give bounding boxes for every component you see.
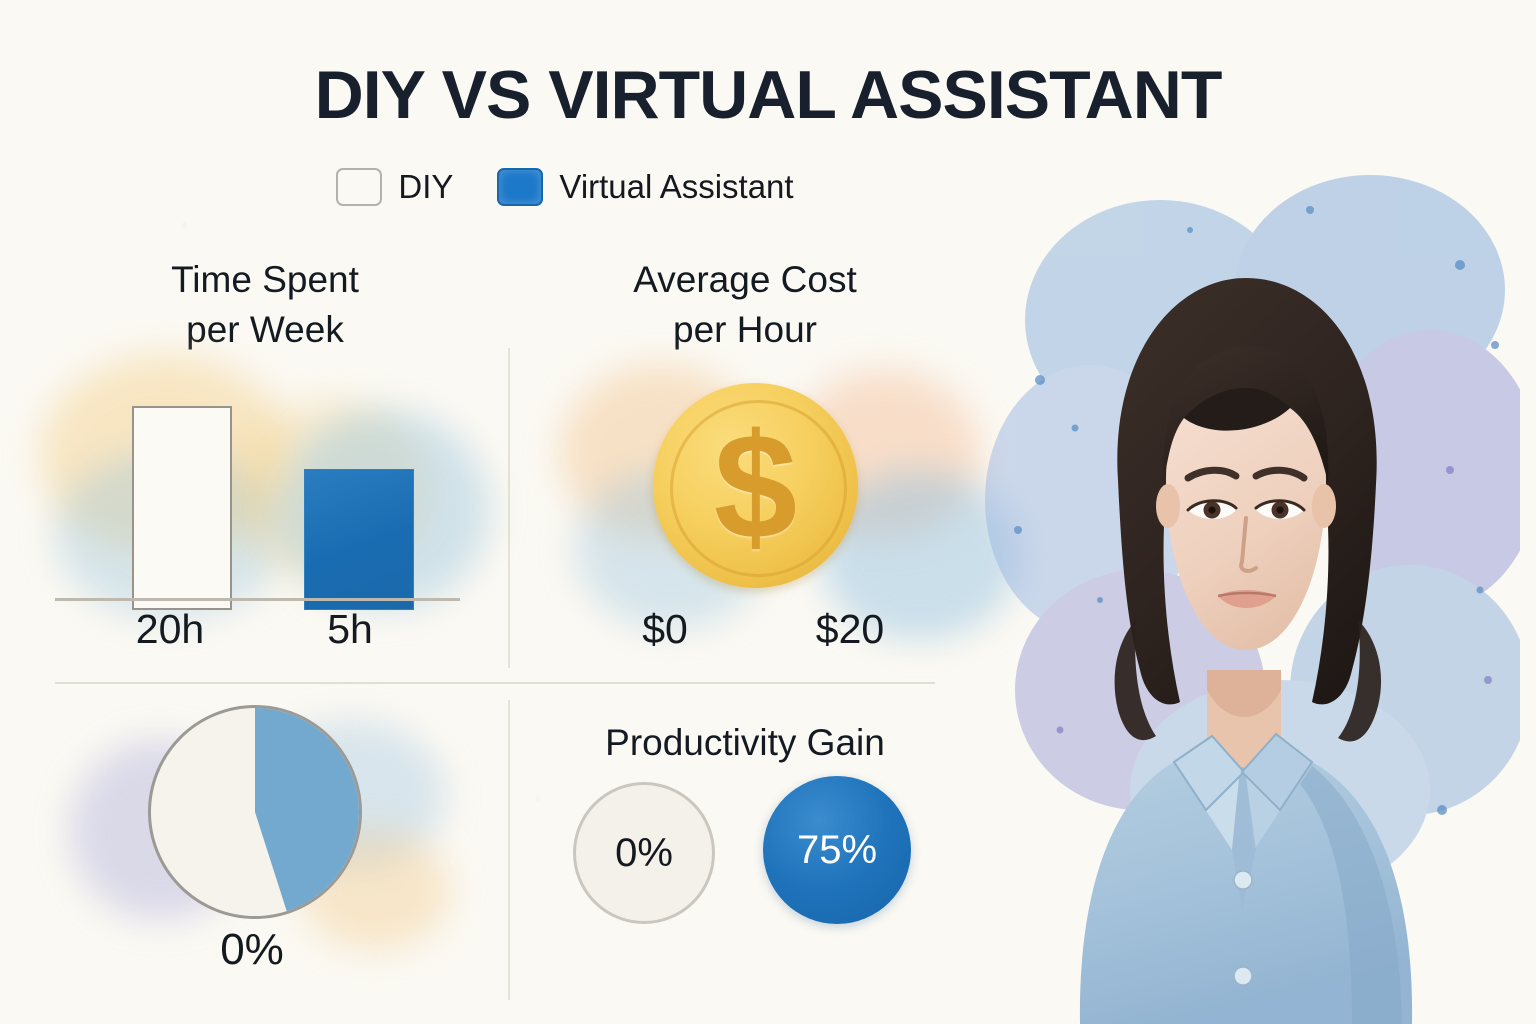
bar-chart-baseline [55, 598, 460, 601]
pie-label-diy: 0% [148, 925, 356, 975]
horizontal-divider [55, 682, 935, 684]
virtual-assistant-swatch-icon [497, 168, 543, 206]
bar-label-va-time: 5h [250, 606, 450, 653]
panel-title-time-spent-line2: per Week [55, 305, 475, 355]
legend-label-diy: DIY [398, 168, 453, 206]
panel-title-average-cost: Average Cost per Hour [545, 255, 945, 354]
page-title: DIY VS VIRTUAL ASSISTANT [0, 56, 1536, 134]
legend-label-virtual-assistant: Virtual Assistant [559, 168, 793, 206]
vertical-divider-bottom [508, 700, 510, 1000]
panel-title-average-cost-line2: per Hour [545, 305, 945, 355]
panel-title-time-spent-line1: Time Spent [55, 255, 475, 305]
shirt-button-1 [1234, 871, 1252, 889]
diy-swatch-icon [336, 168, 382, 206]
dollar-sign-glyph: $ [653, 383, 858, 588]
panel-title-time-spent: Time Spent per Week [55, 255, 475, 354]
panel-title-productivity-gain: Productivity Gain [545, 718, 945, 768]
cost-label-va: $20 [750, 606, 950, 653]
productivity-value-virtual-assistant: 75% [797, 828, 877, 873]
shirt-button-2 [1234, 967, 1252, 985]
bar-diy-time [132, 406, 232, 610]
legend-item-diy: DIY [336, 168, 453, 206]
productivity-circle-diy: 0% [573, 782, 715, 924]
time-spent-bar-chart [60, 380, 480, 610]
coin-body: $ [653, 383, 858, 588]
legend-item-virtual-assistant: Virtual Assistant [497, 168, 793, 206]
bar-va-time [304, 469, 414, 610]
productivity-circle-virtual-assistant: 75% [763, 776, 911, 924]
productivity-value-diy: 0% [615, 831, 673, 876]
portrait-illustration [960, 150, 1536, 1024]
vertical-divider-top [508, 348, 510, 668]
share-pie-chart [148, 705, 362, 919]
portrait-figure [960, 150, 1536, 1024]
dollar-coin-icon: $ [640, 378, 870, 603]
panel-title-productivity-gain-text: Productivity Gain [545, 718, 945, 768]
bar-label-diy-time: 20h [60, 606, 280, 653]
panel-title-average-cost-line1: Average Cost [545, 255, 945, 305]
cost-label-diy: $0 [570, 606, 760, 653]
infographic-canvas: DIY VS VIRTUAL ASSISTANT DIY Virtual Ass… [0, 0, 1536, 1024]
pie-slice-virtual-assistant [151, 708, 359, 916]
